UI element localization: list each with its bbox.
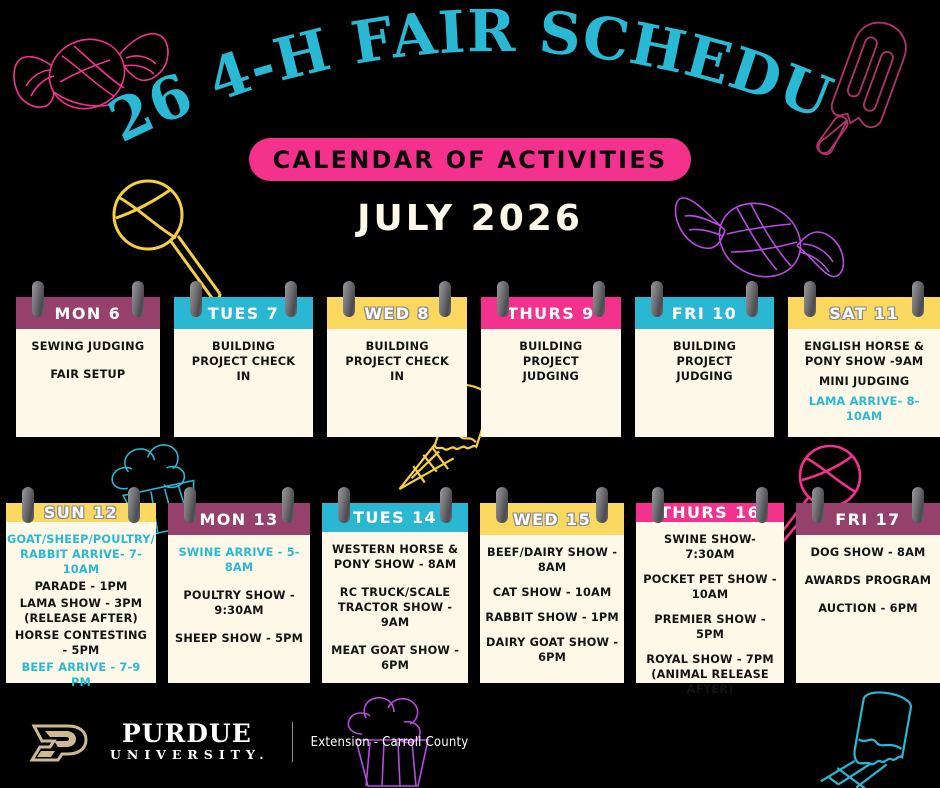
day-card-body: DOG SHOW - 8AMAWARDS PROGRAMAUCTION - 6P… (796, 535, 940, 683)
extension-label: Extension - Carroll County (311, 735, 469, 750)
day-card-fri-17: FRI 17DOG SHOW - 8AMAWARDS PROGRAMAUCTIO… (796, 503, 940, 683)
day-card-entry: ROYAL SHOW - 7PM (ANIMAL RELEASE AFTER) (641, 652, 779, 697)
day-card-entry: DOG SHOW - 8AM (810, 545, 925, 560)
day-card-fri-10: FRI 10BUILDING PROJECT JUDGING (635, 297, 775, 437)
day-card-entry: BEEF/DAIRY SHOW - 8AM (485, 545, 619, 575)
card-pin-left (22, 487, 34, 523)
day-card-body: GOAT/SHEEP/POULTRY/ RABBIT ARRIVE- 7-10A… (6, 522, 156, 700)
purdue-wordmark-line1: PURDUE (122, 721, 252, 747)
card-pin-right (128, 487, 140, 523)
day-card-entry: ENGLISH HORSE & PONY SHOW -9AM (804, 339, 924, 369)
day-card-mon-6: MON 6SEWING JUDGINGFAIR SETUP (16, 297, 160, 437)
card-pin-right (439, 281, 451, 317)
day-card-entry: HORSE CONTESTING - 5PM (11, 628, 151, 658)
card-pin-left (804, 281, 816, 317)
day-card-body: SWINE ARRIVE - 5-8AMPOULTRY SHOW - 9:30A… (168, 535, 310, 683)
day-card-tues-7: TUES 7BUILDING PROJECT CHECK IN (174, 297, 314, 437)
card-pin-right (912, 487, 924, 523)
day-card-entry: SEWING JUDGING (31, 339, 144, 354)
day-card-entry: AWARDS PROGRAM (805, 573, 931, 588)
card-pin-left (190, 281, 202, 317)
purdue-logo: PURDUE UNIVERSITY. Extension - Carroll C… (28, 720, 468, 764)
day-card-entry: LAMA ARRIVE- 8-10AM (793, 394, 935, 424)
day-card-entry: SWINE SHOW- 7:30AM (641, 532, 779, 562)
card-pin-right (593, 281, 605, 317)
card-pin-right (132, 281, 144, 317)
day-card-entry: BEEF ARRIVE - 7-9 PM (11, 660, 151, 690)
week-row-2: SUN 12GOAT/SHEEP/POULTRY/ RABBIT ARRIVE-… (0, 503, 940, 683)
day-card-body: SWINE SHOW- 7:30AMPOCKET PET SHOW - 10AM… (636, 522, 784, 707)
day-card-sat-11: SAT 11ENGLISH HORSE & PONY SHOW -9AMMINI… (788, 297, 940, 437)
week-row-1: MON 6SEWING JUDGINGFAIR SETUPTUES 7BUILD… (0, 297, 940, 437)
card-pin-right (756, 487, 768, 523)
day-card-body: BEEF/DAIRY SHOW - 8AMCAT SHOW - 10AMRABB… (480, 535, 624, 683)
day-card-body: SEWING JUDGINGFAIR SETUP (16, 329, 160, 437)
day-card-entry: PARADE - 1PM (35, 579, 128, 594)
card-pin-left (652, 487, 664, 523)
day-card-body: BUILDING PROJECT JUDGING (635, 329, 775, 437)
card-pin-left (338, 487, 350, 523)
card-pin-left (496, 487, 508, 523)
day-card-entry: LAMA SHOW - 3PM (RELEASE AFTER) (20, 596, 142, 626)
month-label: JULY 2026 (0, 198, 940, 239)
card-pin-right (746, 281, 758, 317)
subtitle-pill-label: CALENDAR OF ACTIVITIES (273, 146, 668, 174)
day-card-entry: BUILDING PROJECT CHECK IN (345, 339, 449, 384)
card-pin-left (812, 487, 824, 523)
purdue-wordmark-line2: UNIVERSITY. (104, 747, 270, 763)
day-card-entry: MINI JUDGING (819, 374, 909, 389)
day-card-mon-13: MON 13SWINE ARRIVE - 5-8AMPOULTRY SHOW -… (168, 503, 310, 683)
card-pin-left (32, 281, 44, 317)
day-card-entry: MEAT GOAT SHOW - 6PM (327, 643, 463, 673)
day-card-entry: RC TRUCK/SCALE TRACTOR SHOW - 9AM (327, 585, 463, 630)
day-card-entry: BUILDING PROJECT JUDGING (519, 339, 582, 384)
subtitle-pill: CALENDAR OF ACTIVITIES (249, 138, 691, 181)
day-card-entry: SWINE ARRIVE - 5-8AM (173, 545, 305, 575)
day-card-tues-14: TUES 14WESTERN HORSE & PONY SHOW - 8AMRC… (322, 503, 468, 683)
purdue-wordmark: PURDUE UNIVERSITY. (104, 721, 270, 764)
day-card-wed-15: WED 15BEEF/DAIRY SHOW - 8AMCAT SHOW - 10… (480, 503, 624, 683)
day-card-entry: FAIR SETUP (50, 367, 125, 382)
day-card-thurs-9: THURS 9BUILDING PROJECT JUDGING (481, 297, 621, 437)
day-card-body: BUILDING PROJECT JUDGING (481, 329, 621, 437)
card-pin-right (440, 487, 452, 523)
day-card-entry: SHEEP SHOW - 5PM (175, 631, 303, 646)
day-card-entry: CAT SHOW - 10AM (493, 585, 612, 600)
day-card-entry: WESTERN HORSE & PONY SHOW - 8AM (332, 542, 458, 572)
purdue-motion-p-icon (28, 720, 92, 764)
card-pin-left (651, 281, 663, 317)
page-title: 2026 4-H FAIR SCHEDULE (0, 8, 940, 148)
card-pin-right (596, 487, 608, 523)
day-card-entry: GOAT/SHEEP/POULTRY/ RABBIT ARRIVE- 7-10A… (7, 532, 155, 577)
day-card-thurs-16: THURS 16SWINE SHOW- 7:30AMPOCKET PET SHO… (636, 503, 784, 683)
day-card-body: WESTERN HORSE & PONY SHOW - 8AMRC TRUCK/… (322, 532, 468, 683)
fair-schedule-poster: 2026 4-H FAIR SCHEDULE CALENDAR OF ACTIV… (0, 0, 940, 788)
card-pin-right (912, 281, 924, 317)
day-card-entry: AUCTION - 6PM (818, 601, 917, 616)
day-card-sun-12: SUN 12GOAT/SHEEP/POULTRY/ RABBIT ARRIVE-… (6, 503, 156, 683)
day-card-body: BUILDING PROJECT CHECK IN (327, 329, 467, 437)
day-card-entry: RABBIT SHOW - 1PM (485, 610, 619, 625)
card-pin-right (285, 281, 297, 317)
day-card-wed-8: WED 8BUILDING PROJECT CHECK IN (327, 297, 467, 437)
day-card-entry: PREMIER SHOW - 5PM (641, 612, 779, 642)
page-title-text: 2026 4-H FAIR SCHEDULE (0, 8, 842, 148)
day-card-entry: BUILDING PROJECT CHECK IN (192, 339, 296, 384)
svg-text:2026 4-H FAIR SCHEDULE: 2026 4-H FAIR SCHEDULE (0, 8, 842, 148)
day-card-entry: POULTRY SHOW - 9:30AM (183, 588, 294, 618)
card-pin-left (497, 281, 509, 317)
card-pin-left (184, 487, 196, 523)
lollipop-yellow-icon (100, 170, 230, 310)
day-card-entry: POCKET PET SHOW - 10AM (641, 572, 779, 602)
footer: PURDUE UNIVERSITY. Extension - Carroll C… (0, 706, 940, 788)
logo-divider (292, 722, 293, 762)
card-pin-left (343, 281, 355, 317)
day-card-body: BUILDING PROJECT CHECK IN (174, 329, 314, 437)
card-pin-right (282, 487, 294, 523)
day-card-entry: DAIRY GOAT SHOW - 6PM (485, 635, 619, 665)
day-card-body: ENGLISH HORSE & PONY SHOW -9AMMINI JUDGI… (788, 329, 940, 437)
day-card-entry: BUILDING PROJECT JUDGING (673, 339, 736, 384)
